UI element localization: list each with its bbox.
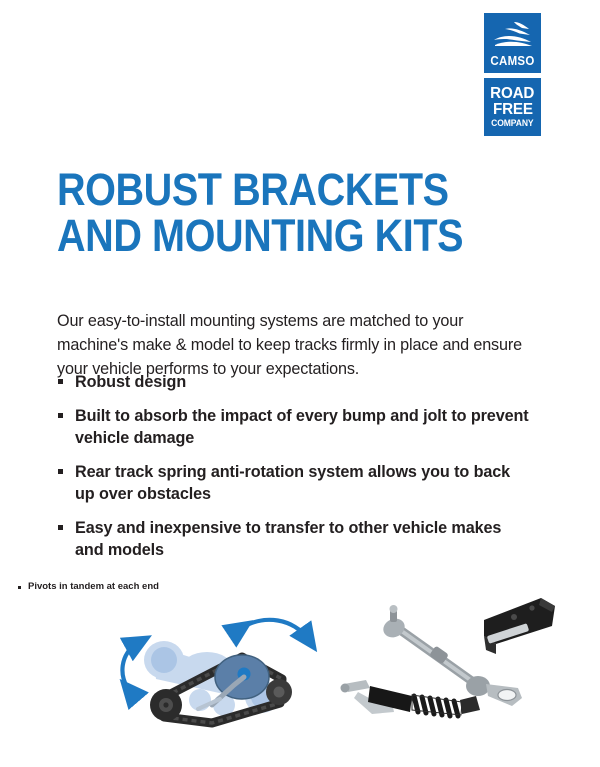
mounting-hardware-photo — [336, 592, 561, 727]
list-item: Built to absorb the impact of every bump… — [57, 405, 532, 449]
road-free-company-badge: ROAD FREE COMPANY — [484, 78, 541, 136]
rubber-track-system-illustration — [112, 605, 327, 735]
camso-chevron-mark-icon — [492, 21, 533, 47]
bullet-label: Easy and inexpensive to transfer to othe… — [75, 517, 532, 561]
page-title-line-1: ROBUST BRACKETS — [57, 167, 435, 213]
list-item: Easy and inexpensive to transfer to othe… — [57, 517, 532, 561]
bullet-label: Rear track spring anti-rotation system a… — [75, 461, 532, 505]
feature-bullet-list: Robust design Built to absorb the impact… — [57, 371, 532, 573]
brand-logo-block: CAMSO ROAD FREE COMPANY — [484, 13, 541, 136]
badge-line-free: FREE — [493, 102, 533, 118]
page-title: ROBUST BRACKETS AND MOUNTING KITS — [57, 167, 435, 259]
badge-line-road: ROAD — [491, 86, 535, 102]
bullet-label: Robust design — [75, 371, 532, 393]
list-item: Robust design — [57, 371, 532, 393]
list-item: Rear track spring anti-rotation system a… — [57, 461, 532, 505]
spring-damper-part — [341, 680, 481, 716]
figure-footnote: Pivots in tandem at each end — [18, 581, 159, 592]
camso-logo-tile: CAMSO — [484, 13, 541, 73]
camso-wordmark: CAMSO — [486, 55, 538, 68]
badge-line-company: COMPANY — [491, 119, 533, 128]
bullet-label: Built to absorb the impact of every bump… — [75, 405, 532, 449]
mounting-bracket-part — [484, 598, 555, 654]
page-title-line-2: AND MOUNTING KITS — [57, 213, 435, 259]
